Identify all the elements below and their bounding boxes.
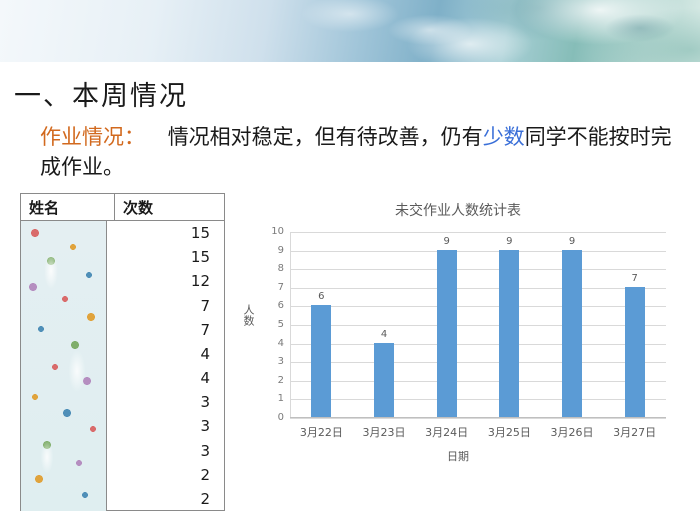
- chart-y-tick-label: 5: [264, 319, 284, 330]
- counts-table: 姓名 次数 15 15 12 7 7 4 4 3 3 3 2 2: [20, 193, 225, 511]
- chart-y-tick-label: 4: [264, 338, 284, 349]
- table-row: 12: [107, 269, 224, 293]
- chart-gridline: [290, 269, 666, 270]
- chart-y-tick-label: 7: [264, 282, 284, 293]
- chart-x-tick-label: 3月22日: [286, 424, 356, 440]
- chart-gridline: [290, 232, 666, 233]
- table-row: 7: [107, 318, 224, 342]
- chart-bar[interactable]: [374, 343, 394, 417]
- chart-value-label: 7: [615, 273, 655, 284]
- chart-gridline: [290, 344, 666, 345]
- table-name-column-obscured: [21, 221, 107, 511]
- chart-y-tick-label: 2: [264, 375, 284, 386]
- chart-gridline: [290, 362, 666, 363]
- chart-y-tick-label: 8: [264, 263, 284, 274]
- table-row: 2: [107, 463, 224, 487]
- table-row: 3: [107, 439, 224, 463]
- body-label: 作业情况：: [40, 125, 145, 149]
- chart-y-tick-label: 10: [264, 226, 284, 237]
- chart-x-tick-label: 3月25日: [474, 424, 544, 440]
- chart-y-tick-label: 3: [264, 356, 284, 367]
- chart-gridline: [290, 325, 666, 326]
- chart-value-label: 4: [364, 329, 404, 340]
- table-row: 4: [107, 342, 224, 366]
- chart-value-label: 9: [489, 236, 529, 247]
- chart-bar[interactable]: [311, 305, 331, 417]
- chart-value-label: 9: [427, 236, 467, 247]
- chart-y-axis-label: 人数: [240, 304, 256, 326]
- chart-gridline: [290, 306, 666, 307]
- table-header-count: 次数: [115, 194, 224, 220]
- chart-gridline: [290, 381, 666, 382]
- chart-x-tick-label: 3月27日: [600, 424, 670, 440]
- table-row: 15: [107, 245, 224, 269]
- table-row: 2: [107, 487, 224, 511]
- table-count-column: 15 15 12 7 7 4 4 3 3 3 2 2: [107, 221, 224, 511]
- chart-gridline: [290, 251, 666, 252]
- chart-gridline: [290, 418, 666, 419]
- chart-bar[interactable]: [437, 250, 457, 417]
- chart-plot-area: 109876543210649997: [290, 232, 666, 418]
- page-title: 一、本周情况: [14, 74, 188, 113]
- body-text-highlight: 少数: [483, 125, 525, 149]
- chart-x-axis-label: 日期: [232, 448, 684, 464]
- table-header-name: 姓名: [21, 194, 115, 220]
- chart-bar[interactable]: [499, 250, 519, 417]
- chart-y-tick-label: 9: [264, 245, 284, 256]
- chart-bar[interactable]: [562, 250, 582, 417]
- table-row: 15: [107, 221, 224, 245]
- chart-y-tick-label: 6: [264, 300, 284, 311]
- table-row: 3: [107, 414, 224, 438]
- table-body: 15 15 12 7 7 4 4 3 3 3 2 2: [21, 221, 224, 511]
- table-row: 4: [107, 366, 224, 390]
- decorative-header-banner: [0, 0, 700, 62]
- table-row: 3: [107, 390, 224, 414]
- chart-y-tick-label: 0: [264, 412, 284, 423]
- bar-chart: 未交作业人数统计表 人数 日期 109876543210649997 3月22日…: [232, 196, 684, 486]
- chart-gridline: [290, 288, 666, 289]
- body-text-plain: 情况相对稳定，但有待改善，仍有: [168, 125, 483, 149]
- chart-x-tick-label: 3月23日: [349, 424, 419, 440]
- body-paragraph: 作业情况： 情况相对稳定，但有待改善，仍有少数同学不能按时完成作业。: [40, 122, 680, 182]
- chart-bar[interactable]: [625, 287, 645, 417]
- chart-value-label: 9: [552, 236, 592, 247]
- chart-gridline: [290, 399, 666, 400]
- chart-y-tick-label: 1: [264, 393, 284, 404]
- chart-x-tick-label: 3月24日: [412, 424, 482, 440]
- chart-x-tick-label: 3月26日: [537, 424, 607, 440]
- chart-value-label: 6: [301, 291, 341, 302]
- table-header-row: 姓名 次数: [21, 194, 224, 221]
- chart-title: 未交作业人数统计表: [232, 200, 684, 220]
- table-row: 7: [107, 294, 224, 318]
